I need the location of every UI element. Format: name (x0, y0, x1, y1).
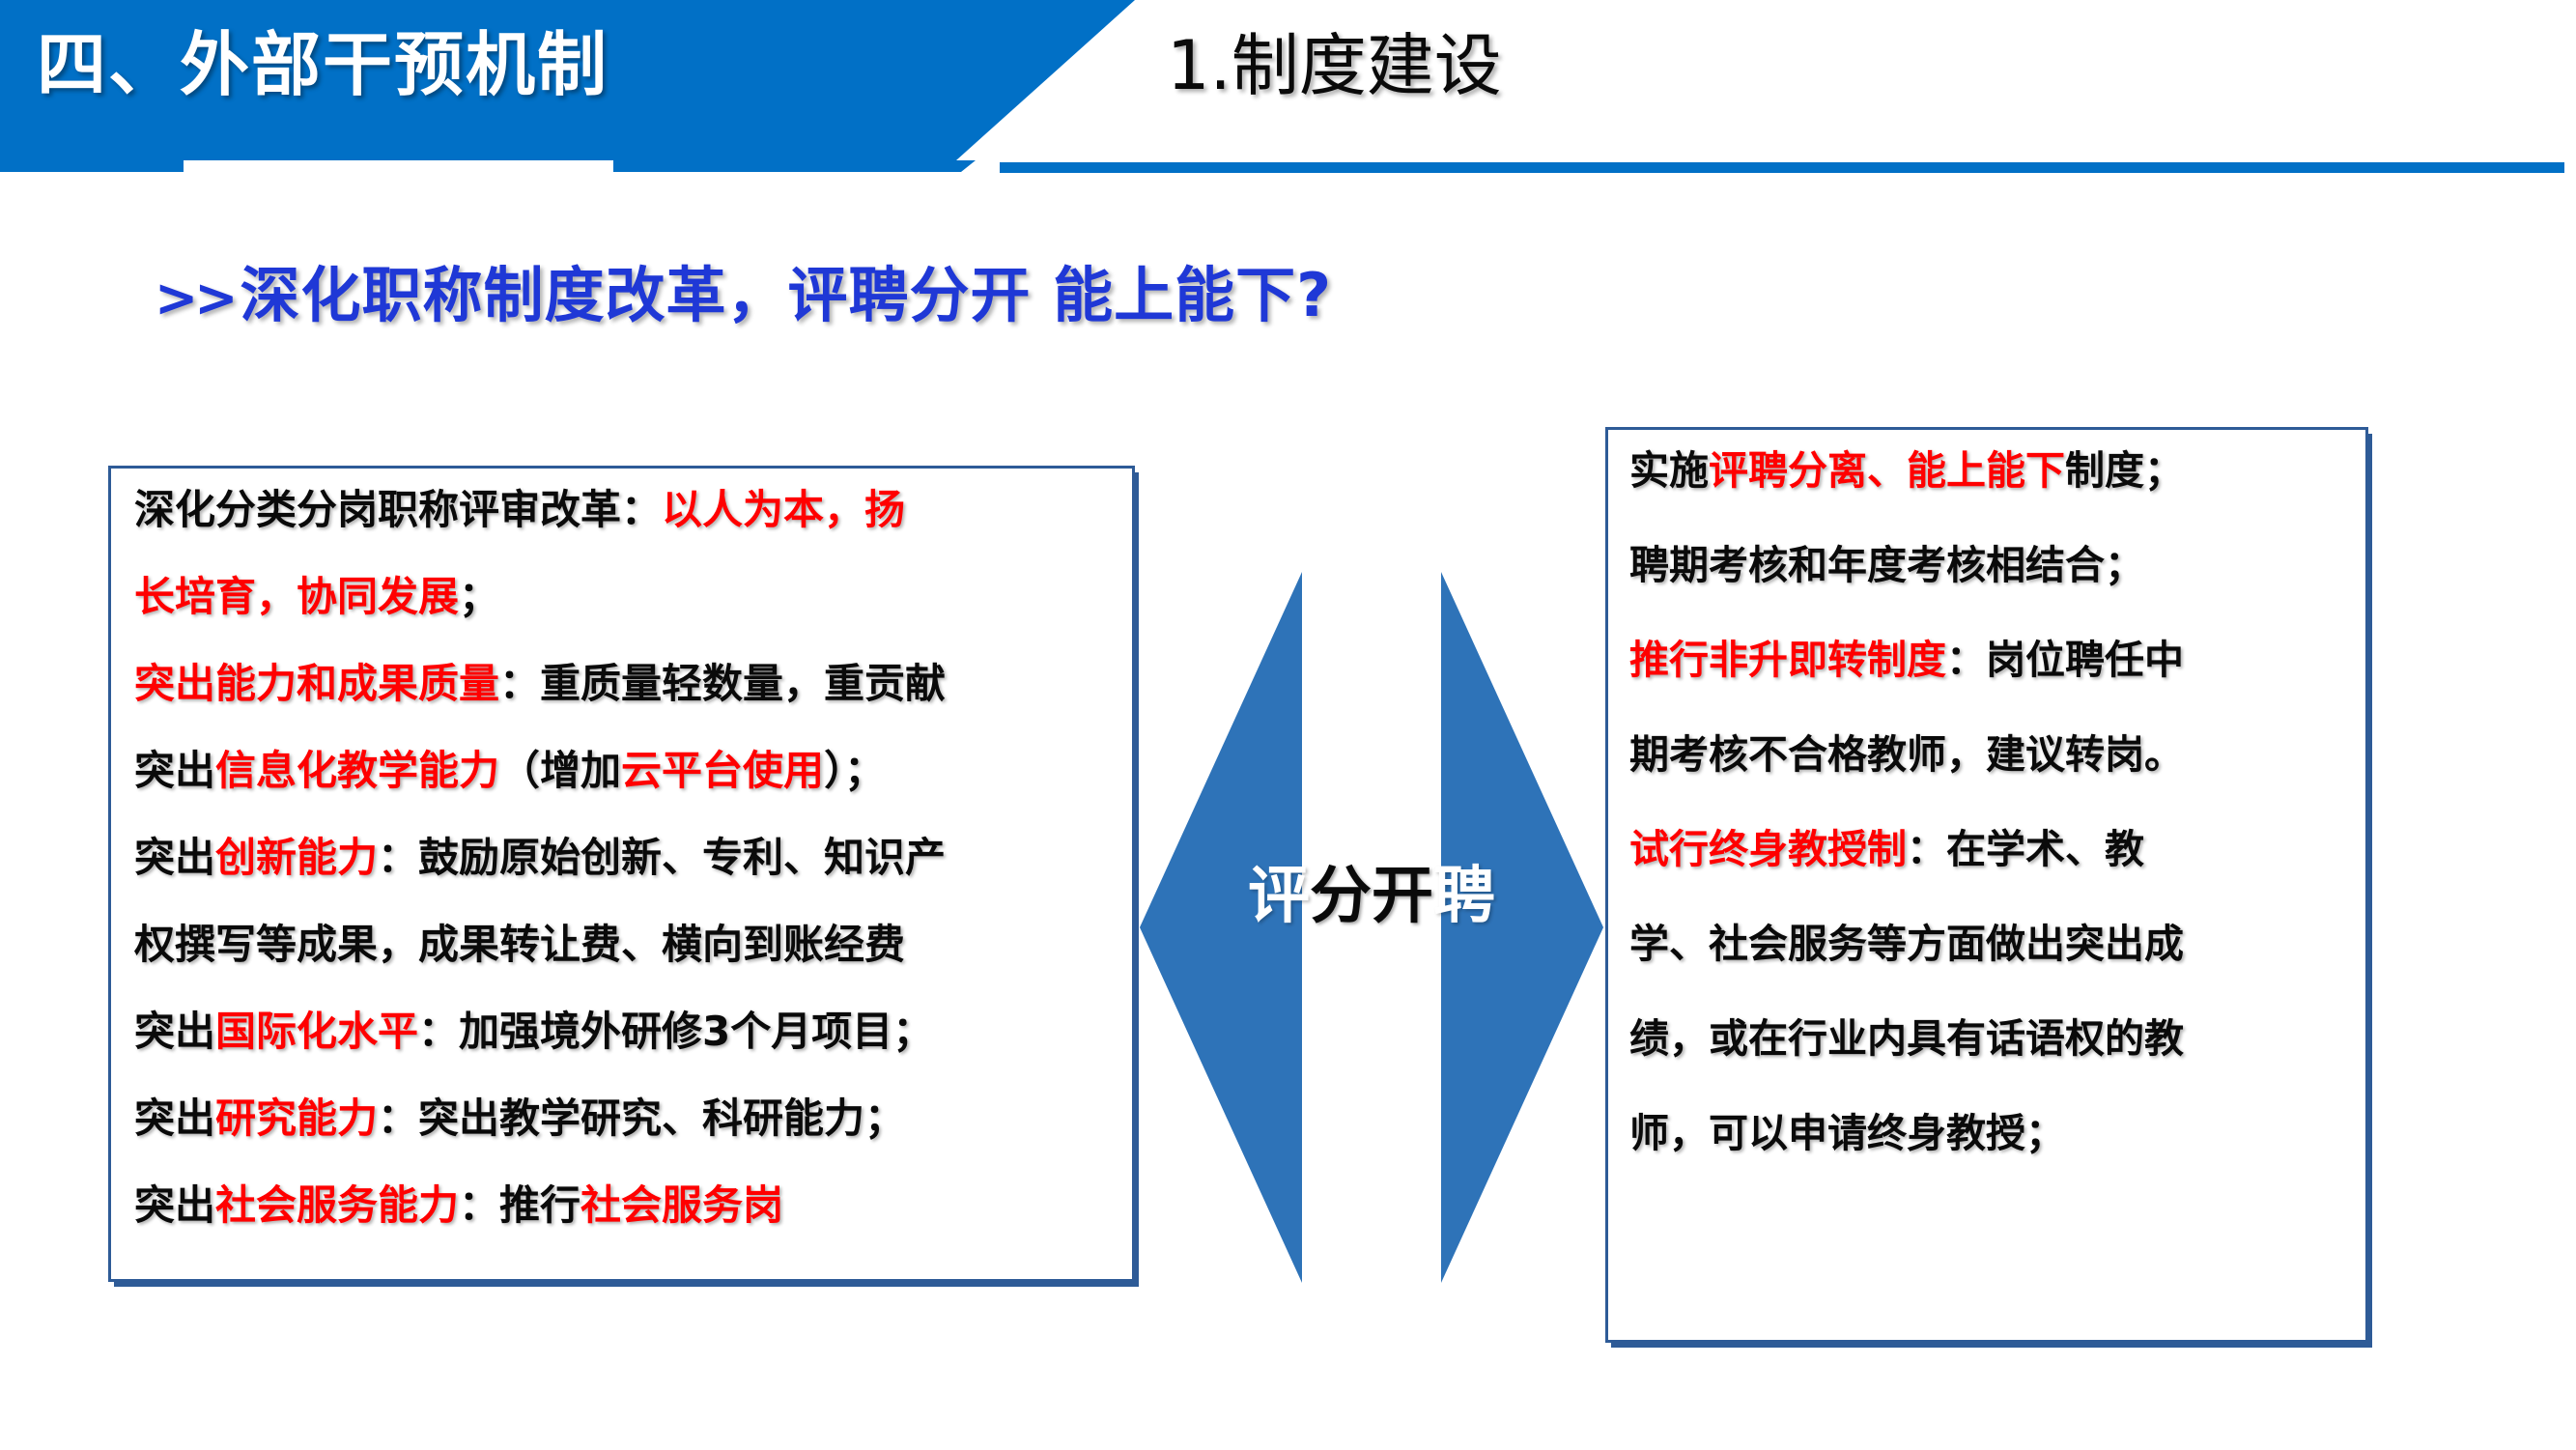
highlighted-text-run: 评聘分离、能上能下 (1709, 447, 2065, 494)
header-banner-gap (184, 160, 613, 172)
text-run: 期考核不合格教师，建议转岗。 (1629, 731, 2184, 778)
panel-text-line: 权撰写等成果，成果转让费、横向到账经费 (134, 924, 1109, 965)
highlighted-text-run: 国际化水平 (215, 1008, 418, 1055)
panel-text-line: 突出创新能力：鼓励原始创新、专利、知识产 (134, 838, 1109, 878)
highlighted-text-run: 以人为本，扬 (662, 486, 905, 533)
highlighted-text-run: 推行非升即转制度 (1629, 637, 1946, 683)
right-content-panel: 实施评聘分离、能上能下制度；聘期考核和年度考核相结合；推行非升即转制度：岗位聘任… (1605, 427, 2368, 1343)
text-run: 制度； (2065, 447, 2184, 494)
panel-text-line: 推行非升即转制度：岗位聘任中 (1629, 640, 2348, 680)
text-run: ； (459, 573, 499, 620)
highlighted-text-run: 社会服务能力 (215, 1181, 459, 1229)
panel-text-line: 突出国际化水平：加强境外研修3个月项目； (134, 1011, 1109, 1052)
highlighted-text-run: 突出能力和成果质量 (134, 660, 499, 707)
text-run: ：加强境外研修3个月项目； (418, 1008, 933, 1055)
panel-text-line: 学、社会服务等方面做出突出成 (1629, 924, 2348, 964)
panel-text-line: 突出能力和成果质量：重质量轻数量，重贡献 (134, 664, 1109, 704)
arrow-caption: 评分开聘 (1140, 866, 1603, 927)
highlighted-text-run: 社会服务岗 (580, 1181, 783, 1229)
highlighted-text-run: 试行终身教授制 (1629, 826, 1907, 872)
left-content-panel: 深化分类分岗职称评审改革：以人为本，扬长培育，协同发展；突出能力和成果质量：重质… (108, 466, 1135, 1282)
panel-text-line: 期考核不合格教师，建议转岗。 (1629, 735, 2348, 775)
panel-text-line: 突出信息化教学能力（增加云平台使用）； (134, 751, 1109, 791)
text-run: 突出 (134, 1008, 215, 1055)
text-run: 师，可以申请终身教授； (1629, 1110, 2065, 1156)
text-run: ：重质量轻数量，重贡献 (499, 660, 946, 707)
text-run: （增加 (499, 747, 621, 794)
text-run: 实施 (1629, 447, 1709, 494)
text-run: 突出 (134, 834, 215, 881)
text-run: 绩，或在行业内具有话语权的教 (1629, 1015, 2184, 1062)
text-run: 学、社会服务等方面做出突出成 (1629, 921, 2184, 967)
panel-text-line: 长培育，协同发展； (134, 577, 1109, 617)
text-run: ）； (824, 747, 885, 794)
text-run: 深化分类分岗职称评审改革： (134, 486, 662, 533)
text-run: 权撰写等成果，成果转让费、横向到账经费 (134, 921, 905, 968)
lead-statement: >>深化职称制度改革，评聘分开 能上能下? (155, 246, 1332, 333)
panel-text-line: 深化分类分岗职称评审改革：以人为本，扬 (134, 490, 1109, 530)
chevron-right-icon: >> (155, 268, 241, 328)
panel-text-line: 师，可以申请终身教授； (1629, 1114, 2348, 1153)
highlighted-text-run: 云平台使用 (621, 747, 824, 794)
text-run: ：岗位聘任中 (1946, 637, 2184, 683)
text-run: ：鼓励原始创新、专利、知识产 (378, 834, 946, 881)
slide-header: 四、外部干预机制 1.制度建设 (0, 0, 2576, 169)
text-run: ：突出教学研究、科研能力； (378, 1095, 905, 1142)
text-run: 突出 (134, 1181, 215, 1229)
arrow-caption-middle: 分开 (1310, 861, 1433, 932)
subsection-title: 1.制度建设 (1167, 27, 1502, 105)
text-run: 聘期考核和年度考核相结合； (1629, 542, 2144, 588)
panel-text-line: 聘期考核和年度考核相结合； (1629, 546, 2348, 585)
highlighted-text-run: 研究能力 (215, 1095, 378, 1142)
header-underline (1000, 162, 2564, 173)
panel-text-line: 绩，或在行业内具有话语权的教 (1629, 1019, 2348, 1059)
panel-text-line: 突出研究能力：突出教学研究、科研能力； (134, 1098, 1109, 1139)
highlighted-text-run: 信息化教学能力 (215, 747, 499, 794)
arrow-caption-left: 评 (1248, 861, 1310, 932)
text-run: 突出 (134, 747, 215, 794)
panel-text-line: 实施评聘分离、能上能下制度； (1629, 451, 2348, 491)
lead-statement-text: 深化职称制度改革，评聘分开 能上能下? (241, 260, 1333, 330)
highlighted-text-run: 长培育，协同发展 (134, 573, 459, 620)
double-arrow-graphic: 评分开聘 (1140, 560, 1603, 1294)
arrow-caption-right: 聘 (1433, 861, 1495, 932)
panel-text-line: 突出社会服务能力：推行社会服务岗 (134, 1185, 1109, 1226)
page-title: 四、外部干预机制 (37, 25, 609, 105)
panel-text-line: 试行终身教授制：在学术、教 (1629, 830, 2348, 869)
text-run: ：推行 (459, 1181, 580, 1229)
highlighted-text-run: 创新能力 (215, 834, 378, 881)
text-run: 突出 (134, 1095, 215, 1142)
text-run: ：在学术、教 (1907, 826, 2144, 872)
